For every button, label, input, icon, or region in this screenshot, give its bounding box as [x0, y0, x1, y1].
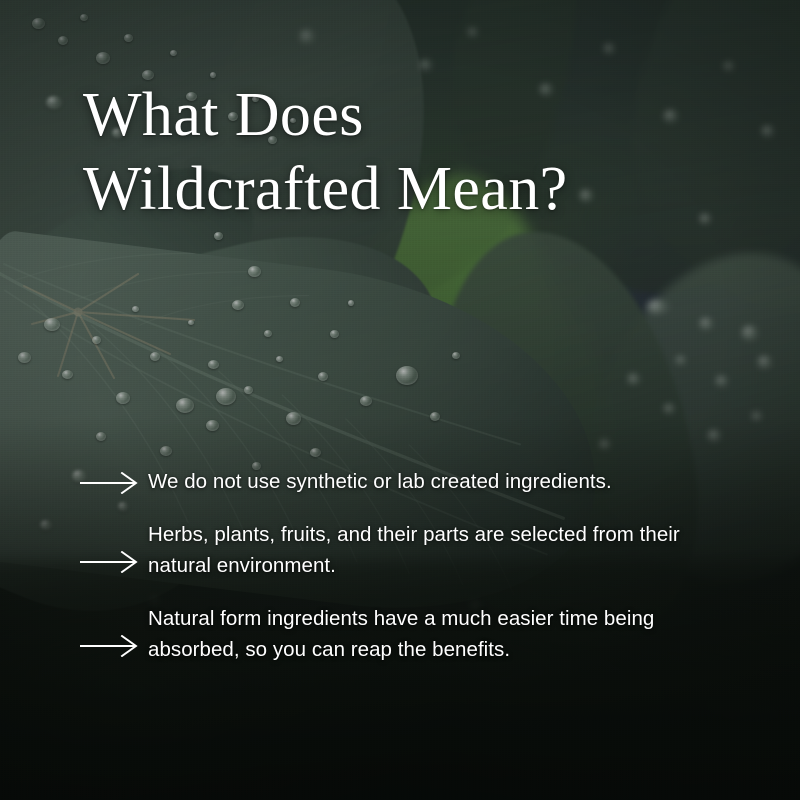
list-item: We do not use synthetic or lab created i…	[0, 466, 800, 497]
poster-canvas: What Does Wildcrafted Mean? We do not us…	[0, 0, 800, 800]
list-item-text: Herbs, plants, fruits, and their parts a…	[148, 519, 714, 581]
list-item: Natural form ingredients have a much eas…	[0, 603, 800, 665]
list-item-text: We do not use synthetic or lab created i…	[148, 466, 612, 497]
poster-content: What Does Wildcrafted Mean? We do not us…	[0, 0, 800, 800]
page-title: What Does Wildcrafted Mean?	[83, 78, 743, 226]
list-item-text: Natural form ingredients have a much eas…	[148, 603, 714, 665]
long-right-arrow-icon	[80, 635, 138, 657]
long-right-arrow-icon	[80, 472, 138, 494]
list-item: Herbs, plants, fruits, and their parts a…	[0, 519, 800, 581]
bullet-list: We do not use synthetic or lab created i…	[0, 466, 800, 665]
long-right-arrow-icon	[80, 551, 138, 573]
